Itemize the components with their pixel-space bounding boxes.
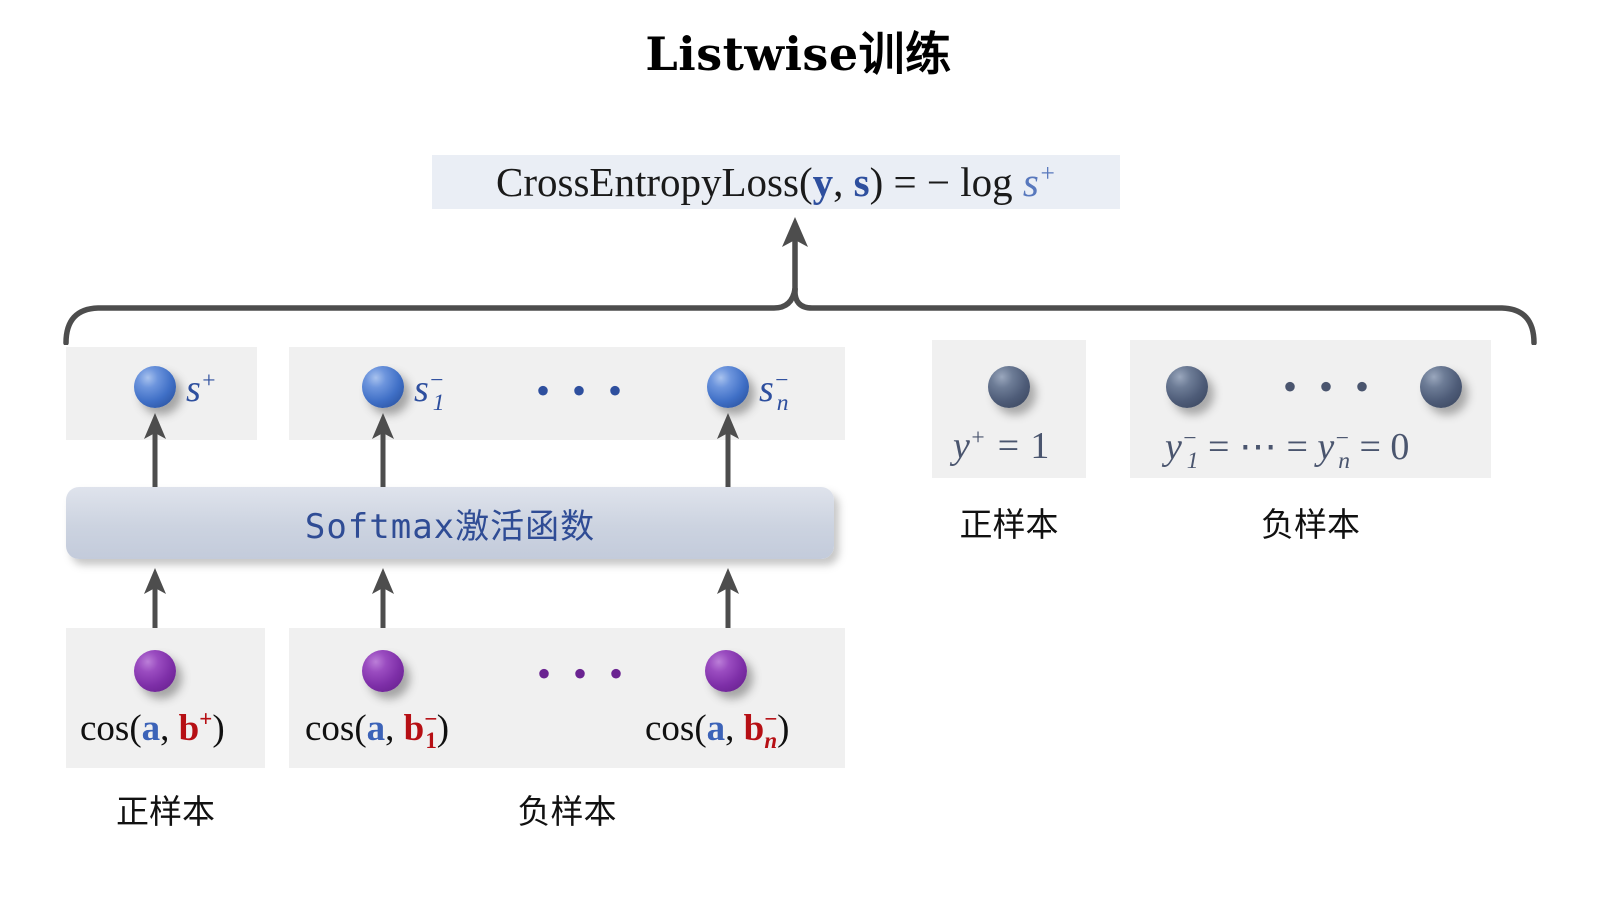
caption-right-negative: 负样本 [1130,498,1491,546]
loss-equals: = [883,159,927,205]
loss-formula-box: CrossEntropyLoss(y, s) = − log s+ [432,155,1120,209]
label-sphere-negative-n [1420,366,1462,408]
loss-score-superscript: + [1039,159,1056,187]
label-sphere-negative-1 [1166,366,1208,408]
cosine-ellipsis: • • • [537,650,629,697]
label-ellipsis: • • • [1283,363,1375,410]
label-text-positive: y+ = 1 [953,424,1049,468]
loss-neg-log: − log [927,159,1023,205]
cosine-label-positive: cos(a, b+) [80,707,225,750]
loss-formula-text: CrossEntropyLoss(y, s) = − log s+ [496,162,1056,203]
score-sphere-negative-n [707,366,749,408]
arrow-softmax-to-score-negative-1 [371,413,395,489]
score-label-negative-n: s−n [759,367,788,411]
score-ellipsis: • • • [536,367,628,414]
score-label-positive: s+ [186,367,217,411]
label-text-negative: y−1 = ⋯ = y−n = 0 [1165,424,1409,469]
loss-comma: , [833,159,854,205]
arrow-softmax-to-score-negative-n [716,413,740,489]
loss-vector-s: s [854,159,870,205]
score-label-negative-1: s−1 [414,367,444,411]
loss-score-symbol: s [1023,159,1039,205]
caption-bottom-positive: 正样本 [66,785,265,833]
loss-vector-y: y [813,159,834,205]
grouping-brace-with-arrow [50,215,1550,345]
score-sphere-negative-1 [362,366,404,408]
cosine-sphere-negative-1 [362,650,404,692]
cosine-label-negative-n: cos(a, b−n) [645,707,789,750]
page-title: Listwise训练 [0,18,1597,84]
score-sphere-positive [134,366,176,408]
softmax-label: Softmax激活函数 [305,499,595,548]
brace-left-arm [66,289,795,343]
cosine-sphere-positive [134,650,176,692]
arrow-softmax-to-score-positive [143,413,167,489]
brace-right-arm [795,289,1534,343]
caption-bottom-negative: 负样本 [289,785,845,833]
caption-right-positive: 正样本 [932,498,1086,546]
loss-close-paren: ) [870,159,884,205]
label-sphere-positive [988,366,1030,408]
loss-prefix: CrossEntropyLoss( [496,159,813,205]
cosine-label-negative-1: cos(a, b−1) [305,707,449,750]
cosine-sphere-negative-n [705,650,747,692]
softmax-activation-box[interactable]: Softmax激活函数 [66,487,834,559]
